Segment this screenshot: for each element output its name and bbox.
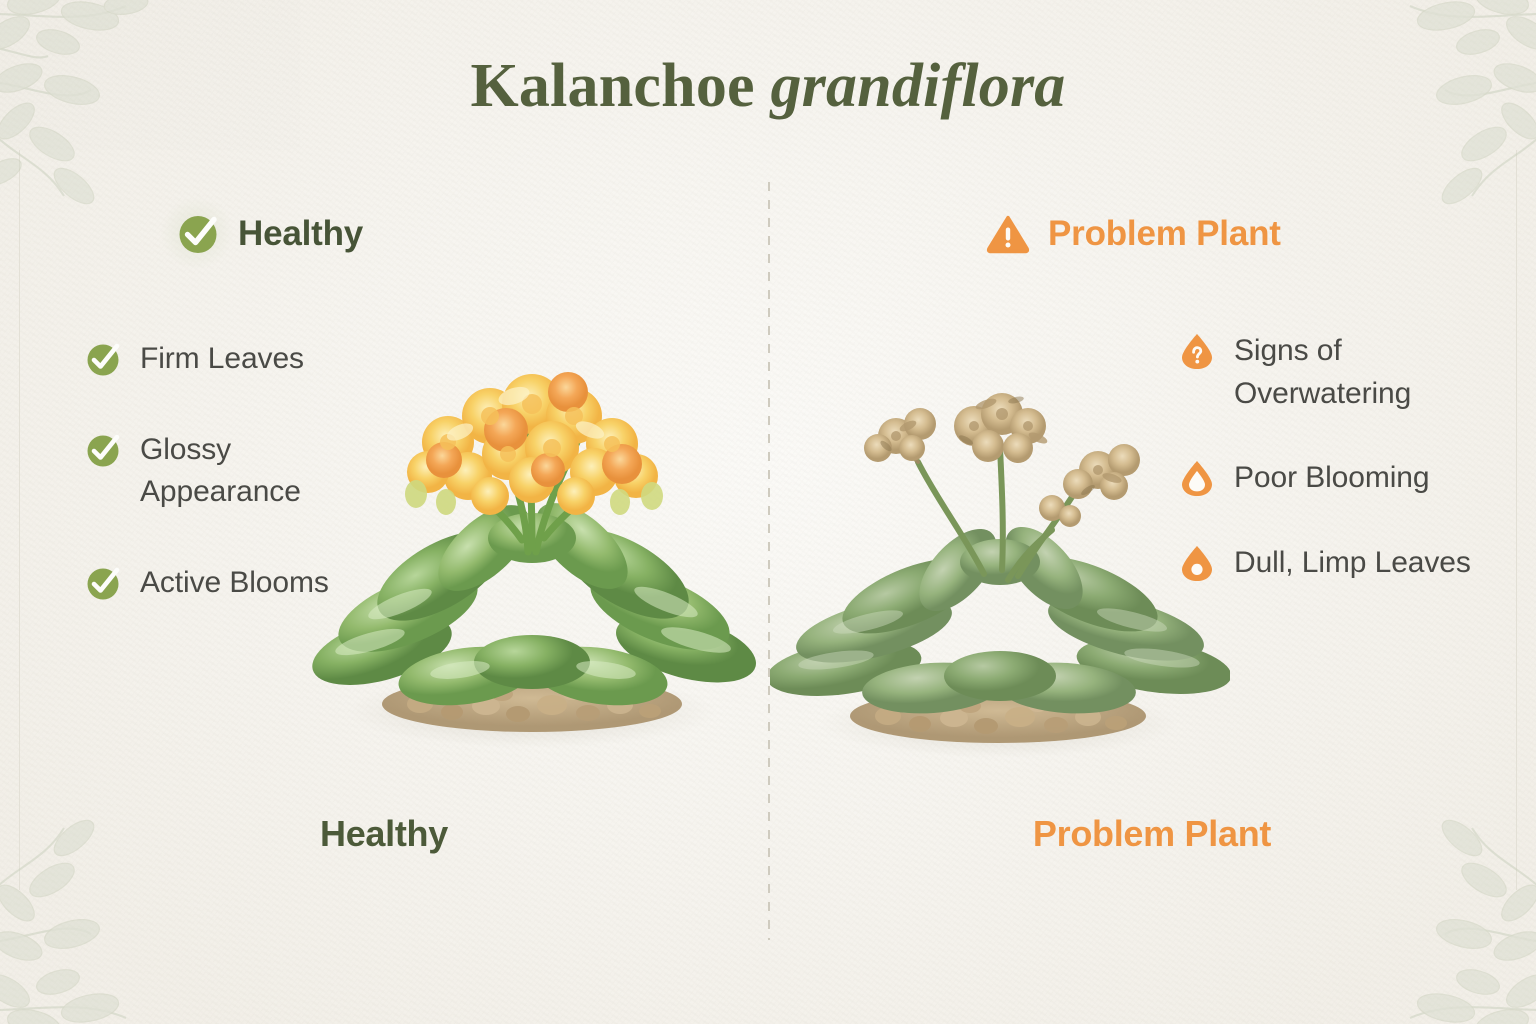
feature-label: Poor Blooming bbox=[1234, 457, 1429, 500]
caption-healthy: Healthy bbox=[0, 813, 768, 855]
panel-header-problem-label: Problem Plant bbox=[1048, 214, 1281, 254]
feature-label: Signs of Overwatering bbox=[1234, 330, 1508, 415]
panel-header-problem: Problem Plant bbox=[986, 212, 1281, 256]
caption-problem: Problem Plant bbox=[768, 813, 1536, 855]
panel-header-healthy: Healthy bbox=[176, 212, 363, 256]
healthy-plant-illustration bbox=[300, 280, 760, 760]
check-circle-icon bbox=[84, 564, 122, 602]
panel-header-healthy-label: Healthy bbox=[238, 214, 363, 254]
warning-triangle-icon bbox=[986, 212, 1030, 256]
feature-label: Firm Leaves bbox=[140, 338, 304, 381]
title-genus: Kalanchoe bbox=[471, 52, 771, 120]
page-title: Kalanchoe grandiflora bbox=[0, 52, 1536, 120]
problem-plant-illustration bbox=[770, 330, 1230, 760]
title-species: grandiflora bbox=[770, 52, 1065, 120]
check-circle-icon bbox=[84, 340, 122, 378]
check-circle-icon bbox=[84, 431, 122, 469]
check-circle-icon bbox=[176, 212, 220, 256]
frame-line-left bbox=[19, 150, 20, 890]
frame-line-right bbox=[1516, 150, 1517, 890]
infographic-page: Kalanchoe grandiflora Healthy Firm Leave… bbox=[0, 0, 1536, 1024]
feature-label: Dull, Limp Leaves bbox=[1234, 542, 1471, 585]
